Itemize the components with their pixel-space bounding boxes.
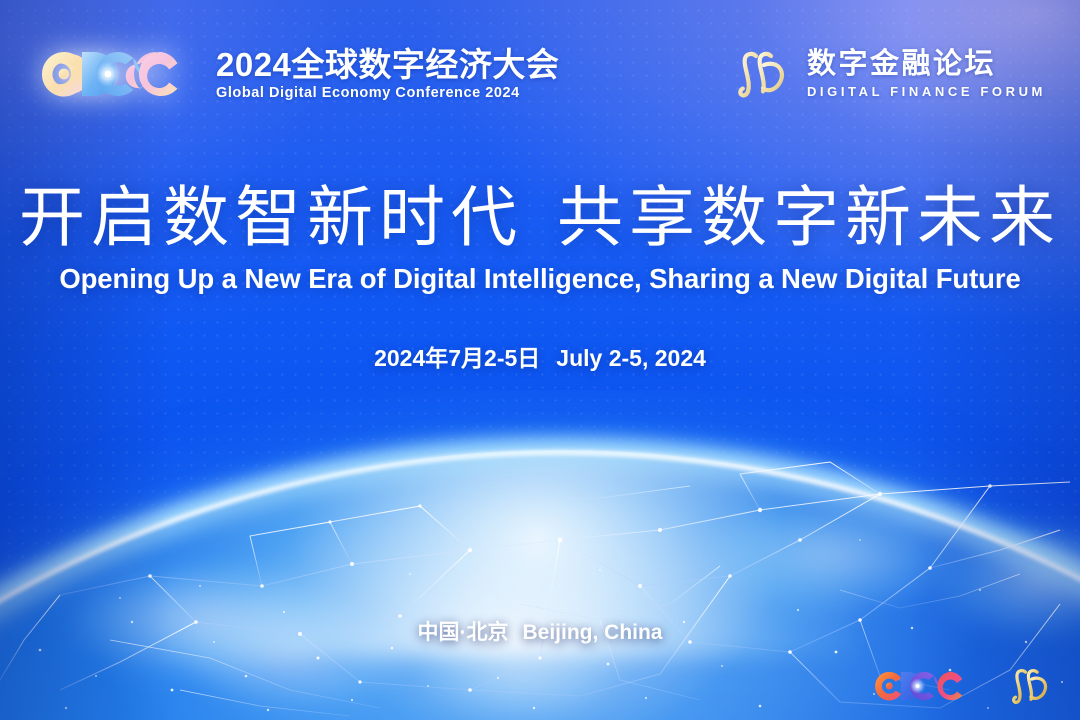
gdec-title-en: Global Digital Economy Conference 2024 — [216, 86, 559, 101]
gdec-logo-icon — [36, 46, 200, 102]
ff-monogram-icon — [733, 48, 793, 100]
location-en: Beijing, China — [522, 621, 662, 644]
main-message-block: 开启数智新时代共享数字新未来 Opening Up a New Era of D… — [0, 182, 1080, 373]
dff-title-cn: 数字金融论坛 — [807, 50, 1046, 79]
gdec-logo-lockup: 2024全球数字经济大会 Global Digital Economy Conf… — [36, 46, 559, 102]
ff-monogram-icon — [1008, 666, 1054, 706]
event-dates: 2024年7月2-5日July 2-5, 2024 — [0, 339, 1080, 373]
slogan-cn-part2: 共享数字新未来 — [557, 180, 1061, 254]
gdec-logo-icon — [870, 668, 978, 704]
header-bar: 2024全球数字经济大会 Global Digital Economy Conf… — [0, 0, 1080, 140]
date-en: July 2-5, 2024 — [556, 345, 706, 371]
slogan-cn: 开启数智新时代共享数字新未来 — [0, 182, 1080, 253]
gdec-title-block: 2024全球数字经济大会 Global Digital Economy Conf… — [216, 47, 559, 101]
conference-backdrop: 2024全球数字经济大会 Global Digital Economy Conf… — [0, 0, 1080, 720]
dff-title-block: 数字金融论坛 DIGITAL FINANCE FORUM — [807, 50, 1046, 98]
date-cn: 2024年7月2-5日 — [374, 345, 540, 371]
event-location: 中国·北京Beijing, China — [0, 616, 1080, 646]
location-cn: 中国·北京 — [417, 621, 508, 644]
slogan-cn-part1: 开启数智新时代 — [19, 180, 523, 254]
footer-logo-row — [870, 666, 1054, 706]
slogan-en: Opening Up a New Era of Digital Intellig… — [0, 263, 1080, 295]
dff-title-en: DIGITAL FINANCE FORUM — [807, 85, 1046, 98]
dff-logo-lockup: 数字金融论坛 DIGITAL FINANCE FORUM — [733, 48, 1046, 100]
gdec-title-cn: 2024全球数字经济大会 — [216, 48, 559, 81]
